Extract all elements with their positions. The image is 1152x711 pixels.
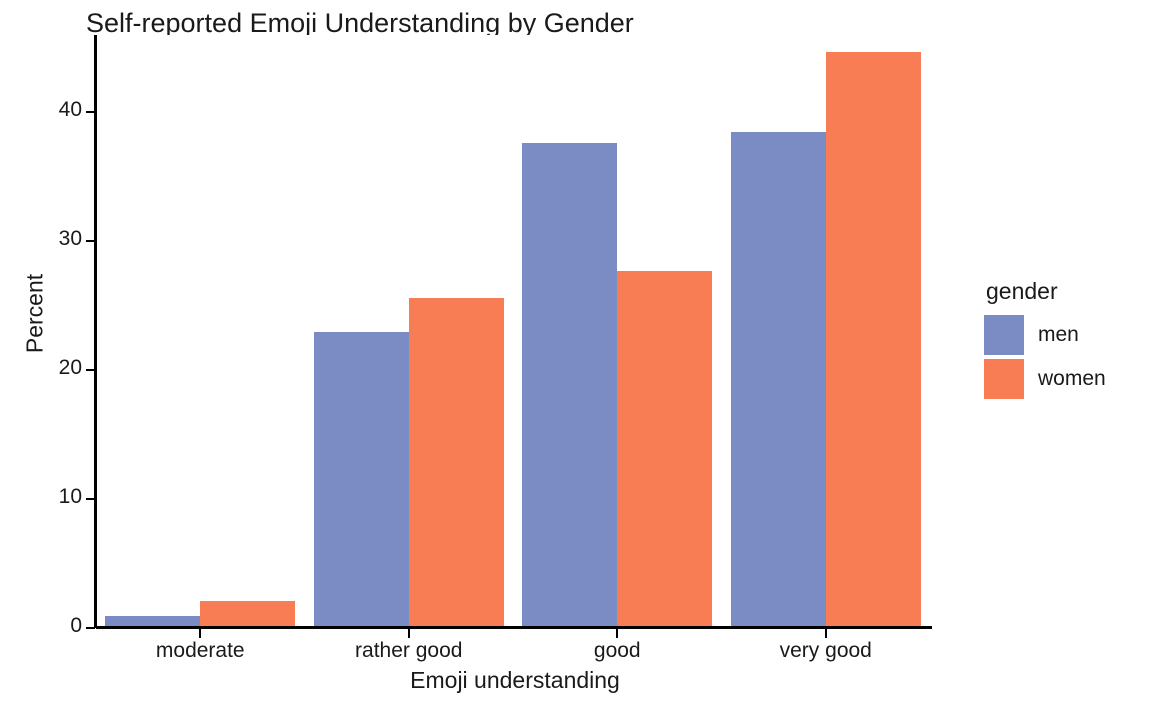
bar-women-good (617, 271, 712, 628)
y-axis-tick-label: 10 (20, 485, 82, 509)
y-axis-tick (86, 627, 95, 629)
legend-item-women[interactable]: women (984, 357, 1144, 401)
legend-item-men[interactable]: men (984, 313, 1144, 357)
legend-swatch-icon (984, 315, 1024, 355)
y-axis-line (94, 35, 97, 628)
y-axis-tick-label: 40 (20, 98, 82, 122)
bar-men-good (522, 143, 617, 628)
legend-swatch-icon (984, 359, 1024, 399)
x-axis-line (96, 626, 932, 629)
y-axis-tick (86, 240, 95, 242)
x-axis-tick-label: moderate (156, 639, 245, 663)
bar-women-moderate (200, 601, 295, 628)
bar-women-rather-good (409, 298, 504, 628)
legend-title: gender (986, 278, 1144, 305)
x-axis-title: Emoji understanding (100, 667, 930, 694)
x-axis-tick (408, 629, 410, 638)
x-axis-tick-label: good (594, 639, 641, 663)
y-axis-tick-label: 20 (20, 356, 82, 380)
legend-item-label: women (1038, 367, 1106, 391)
bars-layer (96, 35, 930, 628)
x-axis-tick-label: very good (780, 639, 872, 663)
x-axis-tick (199, 629, 201, 638)
y-axis-tick (86, 369, 95, 371)
y-axis-tick-label: 30 (20, 227, 82, 251)
bar-women-very-good (826, 52, 921, 628)
x-axis-tick-label: rather good (355, 639, 462, 663)
x-axis-tick (825, 629, 827, 638)
legend-item-label: men (1038, 323, 1079, 347)
legend-entries: menwomen (984, 313, 1144, 401)
y-axis-tick (86, 111, 95, 113)
legend: gender menwomen (984, 278, 1144, 401)
bar-men-very-good (731, 132, 826, 628)
plot-area (96, 35, 930, 628)
x-axis-tick (616, 629, 618, 638)
y-axis-tick (86, 498, 95, 500)
y-axis-tick-label: 0 (20, 614, 82, 638)
bar-men-rather-good (314, 332, 409, 629)
